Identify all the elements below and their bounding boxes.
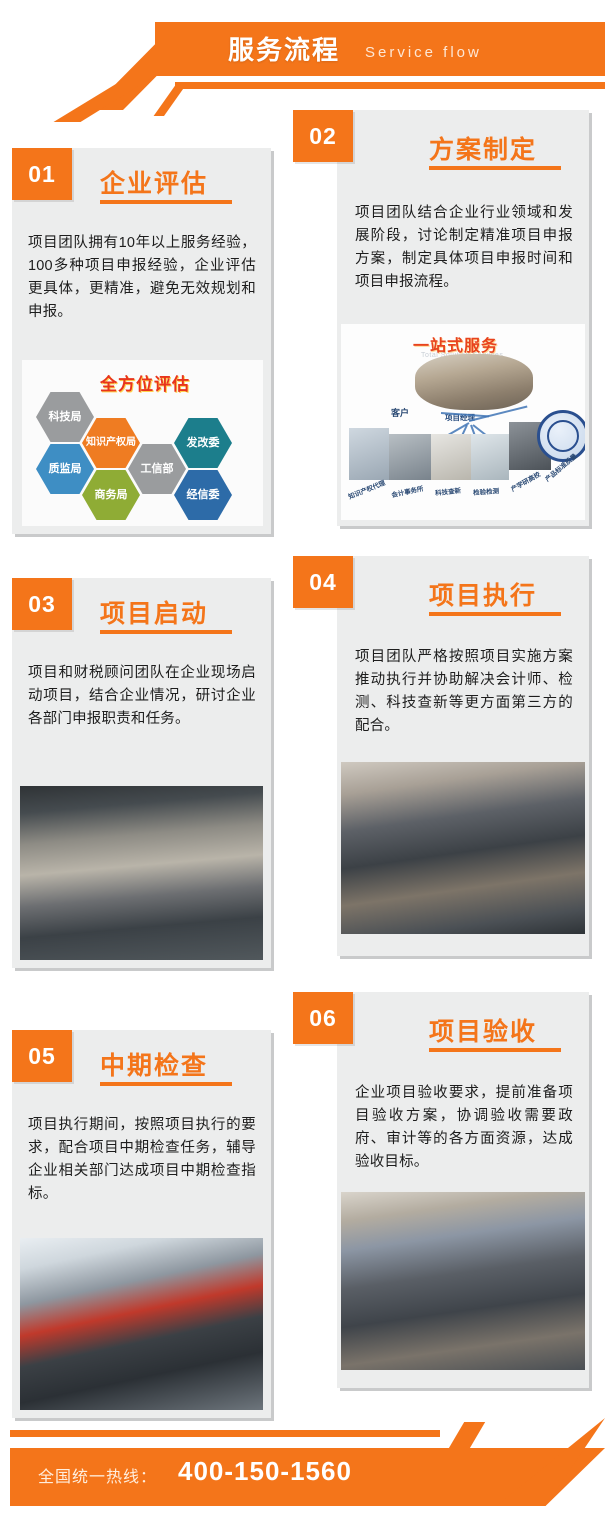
card-description: 项目和财税顾问团队在企业现场启动项目，结合企业情况，研讨企业各部门申报职责和任务…	[28, 662, 256, 731]
card-title: 中期检查	[100, 1046, 208, 1082]
oss-center-meeting-photo	[415, 354, 533, 410]
one-stop-service-infographic: 一站式服务 Total Solution Services 客户 项目经理 知识…	[341, 324, 585, 520]
card-title: 企业评估	[100, 164, 208, 200]
card-description: 项目团队拥有10年以上服务经验，100多种项目申报经验，企业评估更具体，更精准，…	[28, 232, 256, 324]
step-card-03[interactable]: 03 项目启动 项目和财税顾问团队在企业现场启动项目，结合企业情况，研讨企业各部…	[12, 578, 274, 972]
site-visit-showroom-photo	[20, 1238, 263, 1410]
oss-node-photo-1	[349, 428, 389, 480]
oss-node-label-3: 科技查新	[435, 485, 462, 498]
oss-customer-label: 客户	[391, 406, 409, 419]
step-number-badge: 01	[12, 148, 72, 200]
card-description: 企业项目验收要求，提前准备项目验收方案，协调验收需要政府、审计等的各方面资源，达…	[355, 1082, 573, 1174]
hex-node-label: 科技局	[49, 411, 82, 423]
step-number-badge: 02	[293, 110, 353, 162]
oss-node-label-4: 检验检测	[473, 485, 500, 497]
page-header: 服务流程 Service flow	[0, 0, 605, 108]
title-underline	[429, 166, 561, 170]
hotline-label: 全国统一热线：	[38, 1463, 157, 1487]
assessment-hexagon-infographic: 全方位评估 科技局 知识产权局 质监局 商务局 工信部 发改委 经信委	[22, 360, 263, 526]
card-title: 项目启动	[100, 594, 208, 630]
step-number-badge: 06	[293, 992, 353, 1044]
page-footer: 全国统一热线： 400-150-1560	[0, 1408, 605, 1538]
step-card-05[interactable]: 05 中期检查 项目执行期间，按照项目执行的要求，配合项目中期检查任务，辅导企业…	[12, 1030, 274, 1422]
oss-quality-seal-icon	[537, 410, 585, 462]
hex-node-label: 质监局	[49, 463, 82, 475]
hex-node-jxw: 经信委	[174, 470, 232, 520]
hex-node-label: 工信部	[141, 463, 174, 475]
card-description: 项目团队结合企业行业领域和发展阶段，讨论制定精准项目申报方案，制定具体项目申报时…	[355, 202, 573, 294]
oss-node-photo-3	[431, 434, 471, 480]
acceptance-meeting-photo	[341, 1192, 585, 1370]
header-underline	[175, 82, 605, 89]
step-number-badge: 04	[293, 556, 353, 608]
step-card-02[interactable]: 02 方案制定 项目团队结合企业行业领域和发展阶段，讨论制定精准项目申报方案，制…	[293, 110, 593, 530]
card-title: 项目执行	[429, 576, 537, 612]
hex-node-label: 发改委	[187, 437, 220, 449]
step-card-04[interactable]: 04 项目执行 项目团队严格按照项目实施方案推动执行并协助解决会计师、检测、科技…	[293, 556, 593, 960]
title-underline	[100, 630, 232, 634]
title-underline	[429, 612, 561, 616]
card-description: 项目执行期间，按照项目执行的要求，配合项目中期检查任务，辅导企业相关部门达成项目…	[28, 1114, 256, 1206]
hex-node-zscqj: 知识产权局	[82, 418, 140, 468]
step-number-badge: 03	[12, 578, 72, 630]
hex-node-label: 经信委	[187, 489, 220, 501]
hex-node-keji: 科技局	[36, 392, 94, 442]
hex-node-zjj: 质监局	[36, 444, 94, 494]
oss-node-label-2: 会计事务所	[390, 483, 424, 500]
hex-node-swj: 商务局	[82, 470, 140, 520]
conference-room-kickoff-photo	[20, 786, 263, 960]
title-underline	[429, 1048, 561, 1052]
hex-node-label: 商务局	[95, 489, 128, 501]
card-description: 项目团队严格按照项目实施方案推动执行并协助解决会计师、检测、科技查新等更方面第三…	[355, 646, 573, 738]
step-number-badge: 05	[12, 1030, 72, 1082]
step-card-06[interactable]: 06 项目验收 企业项目验收要求，提前准备项目验收方案，协调验收需要政府、审计等…	[293, 992, 593, 1392]
oss-node-photo-4	[471, 434, 509, 480]
card-title: 项目验收	[429, 1012, 537, 1048]
card-title: 方案制定	[429, 130, 537, 166]
step-card-01[interactable]: 01 企业评估 项目团队拥有10年以上服务经验，100多种项目申报经验，企业评估…	[12, 148, 274, 538]
oss-node-label-5: 产学研高校	[509, 469, 542, 494]
page-subtitle: Service flow	[365, 40, 482, 66]
oss-node-label-1: 知识产权代理	[347, 477, 387, 501]
hex-node-fgw: 发改委	[174, 418, 232, 468]
oss-node-photo-2	[389, 434, 431, 480]
hex-node-label: 知识产权局	[86, 437, 136, 449]
hotline-number[interactable]: 400-150-1560	[178, 1456, 352, 1487]
title-underline	[100, 200, 232, 204]
footer-top-rule	[10, 1430, 440, 1437]
hexagon-infographic-title: 全方位评估	[100, 370, 190, 395]
page-title: 服务流程	[228, 32, 340, 68]
title-underline	[100, 1082, 232, 1086]
team-working-meeting-photo	[341, 762, 585, 934]
hex-node-gxb: 工信部	[128, 444, 186, 494]
